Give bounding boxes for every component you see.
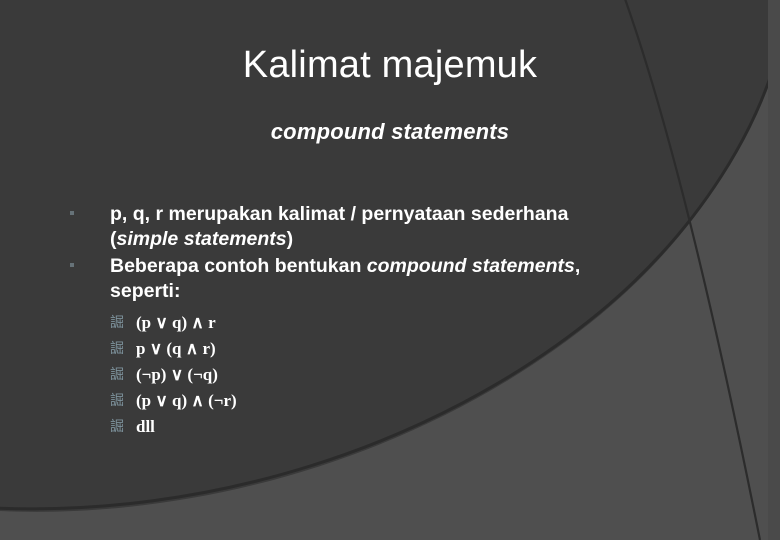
square-bullet-icon: [70, 263, 74, 267]
swirl-ornament-icon: 誳: [110, 414, 124, 440]
list-item: 誳 dll: [62, 414, 722, 440]
list-item: 誳 (p ∨ q) ∧ (¬r): [62, 388, 722, 414]
list-item-emphasis: compound statements: [367, 255, 575, 277]
formula-text: (p ∨ q) ∧ r: [136, 313, 216, 332]
slide-canvas: Kalimat majemuk compound statements p, q…: [0, 0, 780, 540]
page-title: Kalimat majemuk: [0, 44, 780, 87]
list-item: p, q, r merupakan kalimat / pernyataan s…: [62, 202, 722, 252]
formula-text: (¬p) ∨ (¬q): [136, 365, 218, 384]
formula-text: dll: [136, 417, 155, 436]
list-item: 誳 (¬p) ∨ (¬q): [62, 362, 722, 388]
list-item: Beberapa contoh bentukan compound statem…: [62, 254, 722, 304]
page-subtitle: compound statements: [0, 87, 780, 144]
swirl-ornament-icon: 誳: [110, 362, 124, 388]
list-item-emphasis: simple statements: [117, 228, 287, 250]
title-block: Kalimat majemuk compound statements: [0, 44, 780, 144]
square-bullet-icon: [70, 211, 74, 215]
formula-text: (p ∨ q) ∧ (¬r): [136, 391, 237, 410]
formula-list: 誳 (p ∨ q) ∧ r 誳 p ∨ (q ∧ r) 誳 (¬p) ∨ (¬q…: [62, 310, 722, 440]
list-item-trailing-comma: ,: [575, 255, 580, 277]
list-item-line-1: p, q, r merupakan kalimat / pernyataan s…: [110, 203, 568, 225]
list-item-paren-close: ): [287, 228, 294, 250]
swirl-ornament-icon: 誳: [110, 336, 124, 362]
list-item: 誳 p ∨ (q ∧ r): [62, 336, 722, 362]
swirl-ornament-icon: 誳: [110, 388, 124, 414]
list-item: 誳 (p ∨ q) ∧ r: [62, 310, 722, 336]
swirl-ornament-icon: 誳: [110, 310, 124, 336]
formula-text: p ∨ (q ∧ r): [136, 339, 216, 358]
body-content: p, q, r merupakan kalimat / pernyataan s…: [62, 202, 722, 440]
list-item-line-2: seperti:: [110, 280, 180, 302]
list-item-line-1: Beberapa contoh bentukan: [110, 255, 367, 277]
